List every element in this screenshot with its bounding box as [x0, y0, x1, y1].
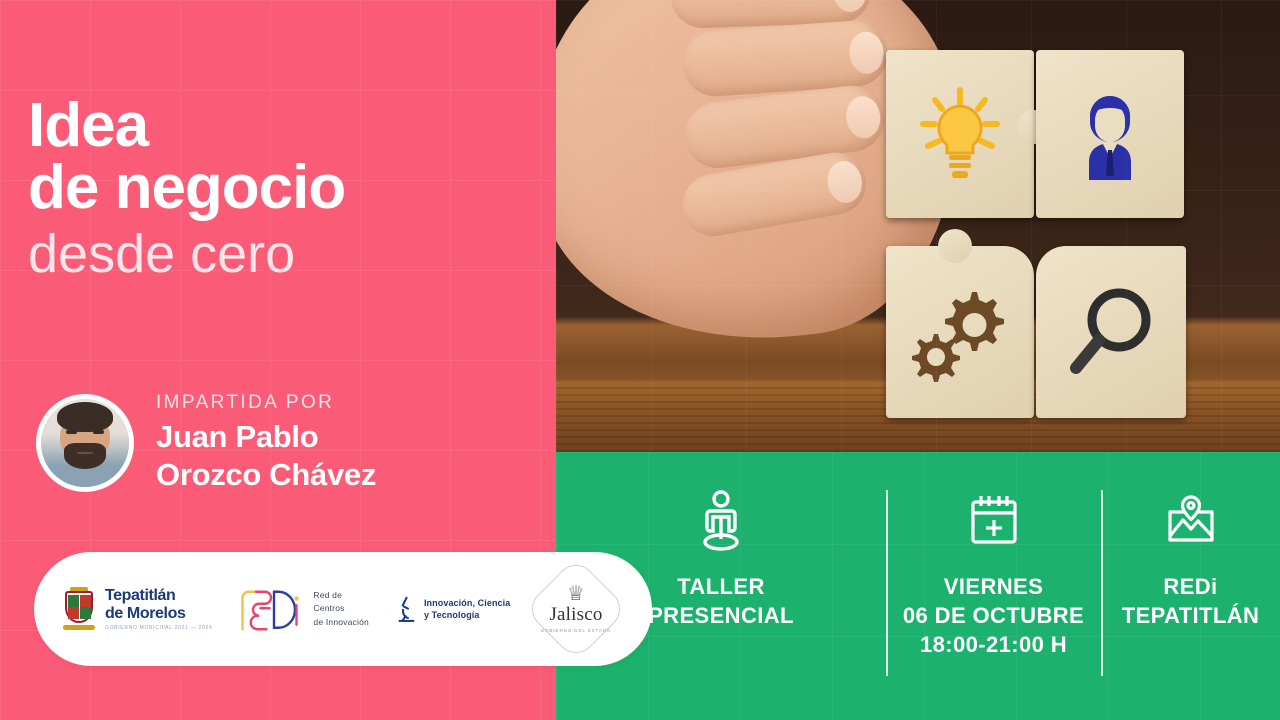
avatar: [36, 394, 134, 492]
avatar-brow-right: [93, 430, 104, 434]
info-location-line-1: REDi: [1163, 572, 1217, 601]
logo-jalisco: ♕ Jalisco GOBIERNO DEL ESTADO: [530, 563, 622, 655]
info-panel: TALLER PRESENCIAL VIERNES: [556, 452, 1280, 720]
page-title: Idea de negocio desde cero: [28, 96, 528, 288]
info-modality-line-1: TALLER: [677, 572, 765, 601]
gears-icon: [908, 282, 1012, 382]
speaker-text: IMPARTIDA POR Juan Pablo Orozco Chávez: [156, 392, 376, 494]
sponsor-logo-bar: Tepatitlán de Morelos GOBIERNO MUNICIPAL…: [34, 552, 652, 666]
redi-word-3: de Innovación: [313, 616, 369, 629]
jalisco-wordmark: Jalisco: [541, 604, 612, 626]
fingernail-2: [848, 31, 885, 75]
speaker-block: IMPARTIDA POR Juan Pablo Orozco Chávez: [36, 392, 376, 494]
logo-redi: Red de Centros de Innovación: [238, 584, 369, 634]
redi-word-1: Red de: [313, 589, 369, 602]
crest-quadrant-2: [80, 595, 91, 607]
column-divider-1: [886, 490, 888, 676]
ict-line-2: y Tecnología: [424, 609, 510, 621]
jalisco-subtitle: GOBIERNO DEL ESTADO: [541, 628, 612, 633]
crest-quadrant-4: [80, 607, 91, 619]
title-line-2: de negocio: [28, 156, 528, 219]
redi-word-2: Centros: [313, 602, 369, 615]
redi-wordmark: Red de Centros de Innovación: [313, 589, 369, 629]
puzzle-piece-search: [1036, 246, 1186, 418]
puzzle-knob-bl: [938, 229, 972, 263]
puzzle-piece-gears: [886, 246, 1034, 418]
hero-photo: [556, 0, 1280, 452]
tepatitlan-subtitle: GOBIERNO MUNICIPAL 2021 — 2024: [105, 625, 212, 631]
lightbulb-icon: [917, 86, 1003, 182]
crest-quadrant-3: [68, 607, 79, 619]
fingernail-4: [824, 158, 865, 205]
info-modality-line-2: PRESENCIAL: [648, 601, 794, 630]
title-line-1: Idea: [28, 96, 528, 156]
tepatitlan-wordmark: Tepatitlán de Morelos GOBIERNO MUNICIPAL…: [105, 587, 212, 631]
person-standing-icon: [696, 490, 746, 552]
avatar-mouth: [77, 452, 93, 455]
redi-logo-icon: [238, 584, 304, 634]
avatar-brow-left: [66, 430, 77, 434]
poster-canvas: Idea de negocio desde cero IMPARTIDA POR…: [0, 0, 1280, 720]
jalisco-inner: ♕ Jalisco GOBIERNO DEL ESTADO: [541, 585, 612, 633]
logo-innovacion-ciencia-tecnologia: Innovación, Ciencia y Tecnología: [395, 594, 510, 624]
info-location-line-2: TEPATITLÁN: [1122, 601, 1260, 630]
title-line-3: desde cero: [28, 221, 528, 289]
crest-quadrant-1: [68, 595, 79, 607]
info-columns: TALLER PRESENCIAL VIERNES: [556, 452, 1280, 720]
info-column-location: REDi TEPATITLÁN: [1101, 452, 1280, 630]
ict-wordmark: Innovación, Ciencia y Tecnología: [424, 597, 510, 621]
logo-tepatitlan: Tepatitlán de Morelos GOBIERNO MUNICIPAL…: [62, 587, 212, 631]
ict-line-1: Innovación, Ciencia: [424, 597, 510, 609]
businessman-icon: [1069, 88, 1151, 180]
info-date-line-1: VIERNES: [944, 572, 1043, 601]
fingernail-3: [844, 94, 883, 140]
puzzle-piece-businessman: [1036, 50, 1184, 218]
magnifying-glass-icon: [1065, 284, 1157, 380]
avatar-hair: [57, 402, 113, 432]
speaker-name-line-2: Orozco Chávez: [156, 456, 376, 494]
map-pin-icon: [1163, 490, 1219, 552]
tepatitlan-line-1: Tepatitlán: [105, 587, 212, 605]
crest-ribbon: [63, 625, 95, 630]
speaker-name-line-1: Juan Pablo: [156, 418, 376, 456]
tepatitlan-line-2: de Morelos: [105, 605, 212, 623]
info-date-line-3: 18:00-21:00 H: [920, 630, 1067, 659]
info-column-date: VIERNES 06 DE OCTUBRE 18:00-21:00 H: [886, 452, 1101, 659]
crown-icon: ♕: [541, 585, 612, 603]
puzzle-piece-lightbulb: [886, 50, 1034, 218]
coat-of-arms-icon: [62, 587, 96, 631]
puzzle-assembly: [886, 50, 1176, 420]
avatar-shirt: [45, 466, 126, 489]
column-divider-2: [1101, 490, 1103, 676]
speaker-label: IMPARTIDA POR: [156, 392, 376, 414]
info-date-line-2: 06 DE OCTUBRE: [903, 601, 1084, 630]
calendar-plus-icon: [968, 490, 1020, 552]
microscope-icon: [395, 594, 417, 624]
fingernail-1: [832, 0, 867, 12]
